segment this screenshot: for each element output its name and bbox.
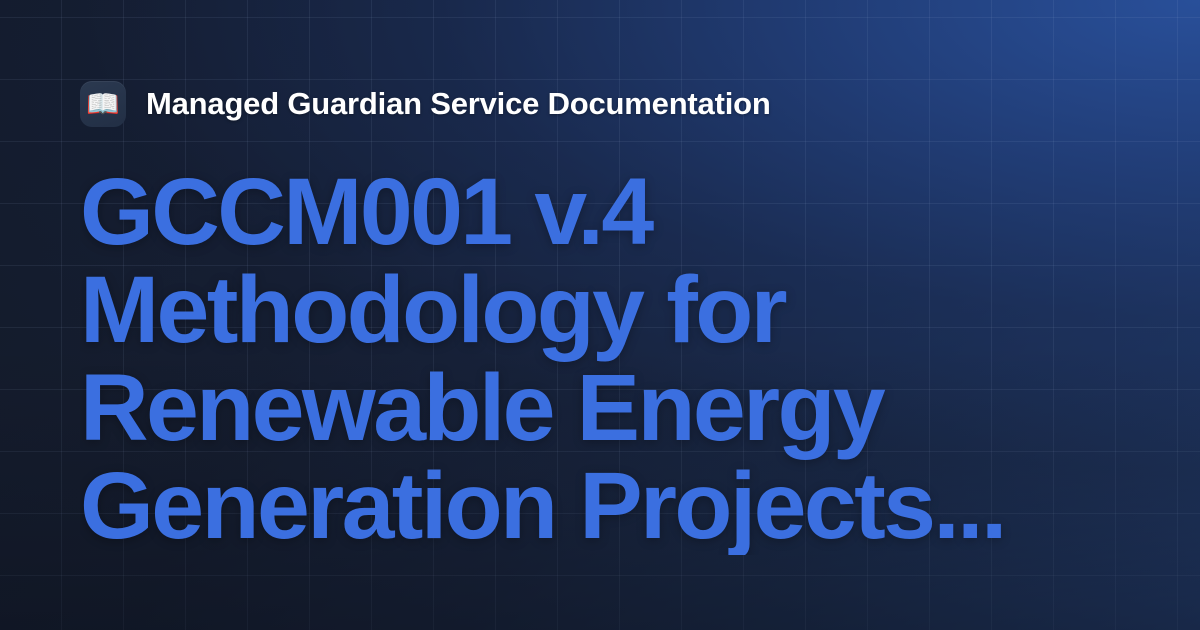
open-book-icon: 📖 xyxy=(80,81,126,127)
page-title: GCCM001 v.4 Methodology for Renewable En… xyxy=(80,164,1080,555)
card-content: 📖 Managed Guardian Service Documentation… xyxy=(80,78,1128,590)
site-title: Managed Guardian Service Documentation xyxy=(146,86,771,122)
og-preview-card: 📖 Managed Guardian Service Documentation… xyxy=(0,0,1200,630)
brand-row: 📖 Managed Guardian Service Documentation xyxy=(80,78,1128,130)
